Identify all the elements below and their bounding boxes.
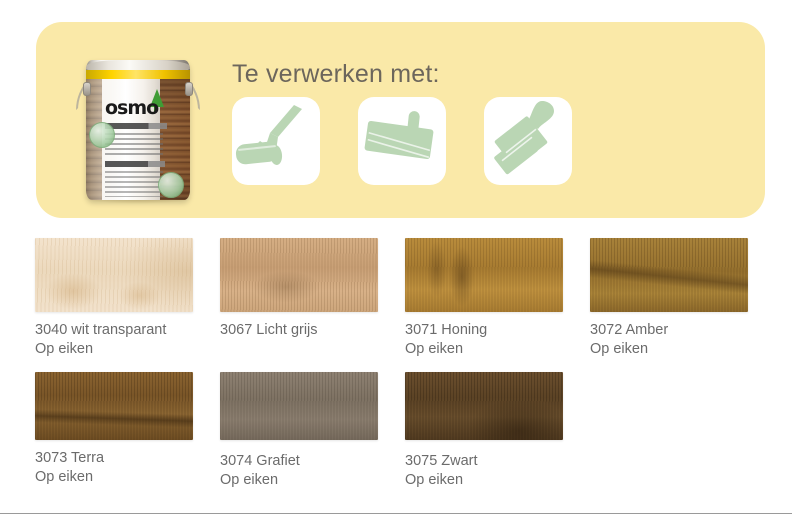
swatch-title: 3040 wit transparant bbox=[35, 321, 220, 340]
swatch-cell-3073[interactable]: 3073 Terra Op eiken bbox=[35, 372, 220, 490]
swatch-subtitle: Op eiken bbox=[35, 340, 220, 359]
osmo-logo: osmo bbox=[105, 99, 158, 118]
swatch-image bbox=[35, 372, 193, 440]
swatch-title: 3067 Licht grijs bbox=[220, 321, 405, 340]
swatch-image bbox=[590, 238, 748, 312]
swatch-subtitle: Op eiken bbox=[220, 471, 405, 490]
page-root: osmo Te verwerken met: bbox=[0, 0, 792, 514]
can-handle-right-lug bbox=[185, 82, 193, 96]
swatch-image bbox=[405, 372, 563, 440]
swatch-title: 3071 Honing bbox=[405, 321, 590, 340]
swatch-cell-3074[interactable]: 3074 Grafiet Op eiken bbox=[220, 372, 405, 490]
product-can-image: osmo bbox=[58, 32, 218, 208]
swatch-image bbox=[405, 238, 563, 312]
swatch-cell-3075[interactable]: 3075 Zwart Op eiken bbox=[405, 372, 590, 490]
paint-can: osmo bbox=[86, 52, 190, 200]
swatch-cell-3072[interactable]: 3072 Amber Op eiken bbox=[590, 238, 775, 359]
can-yellow-stripe bbox=[86, 70, 190, 79]
tool-tile-paint-roller[interactable] bbox=[232, 97, 320, 185]
floor-applicator-icon bbox=[358, 97, 446, 185]
swatch-title: 3074 Grafiet bbox=[220, 452, 405, 471]
swatch-image bbox=[220, 372, 378, 440]
can-body-copy-fr bbox=[105, 171, 163, 197]
can-product-line-nl bbox=[105, 123, 167, 129]
eco-seal-icon-2 bbox=[158, 172, 184, 198]
paint-brush-icon bbox=[484, 97, 572, 185]
can-body: osmo bbox=[86, 60, 190, 200]
paint-roller-icon bbox=[232, 97, 320, 185]
swatch-row: 3040 wit transparant Op eiken 3067 Licht… bbox=[35, 238, 775, 359]
tool-tiles bbox=[232, 97, 572, 185]
colour-swatch-grid: 3040 wit transparant Op eiken 3067 Licht… bbox=[35, 238, 775, 490]
promo-panel: osmo Te verwerken met: bbox=[36, 22, 765, 218]
swatch-title: 3072 Amber bbox=[590, 321, 775, 340]
swatch-image bbox=[35, 238, 193, 312]
swatch-subtitle: Op eiken bbox=[590, 340, 775, 359]
swatch-subtitle: Op eiken bbox=[405, 471, 590, 490]
swatch-row: 3073 Terra Op eiken 3074 Grafiet Op eike… bbox=[35, 372, 775, 490]
swatch-subtitle: Op eiken bbox=[405, 340, 590, 359]
swatch-cell-3071[interactable]: 3071 Honing Op eiken bbox=[405, 238, 590, 359]
swatch-cell-3067[interactable]: 3067 Licht grijs bbox=[220, 238, 405, 359]
swatch-cell-empty bbox=[590, 372, 775, 490]
swatch-title: 3073 Terra bbox=[35, 449, 220, 468]
tool-tile-floor-applicator[interactable] bbox=[358, 97, 446, 185]
swatch-title: 3075 Zwart bbox=[405, 452, 590, 471]
eco-seal-icon-1 bbox=[89, 122, 115, 148]
swatch-image bbox=[220, 238, 378, 312]
promo-heading: Te verwerken met: bbox=[232, 60, 440, 89]
swatch-cell-3040[interactable]: 3040 wit transparant Op eiken bbox=[35, 238, 220, 359]
swatch-subtitle: Op eiken bbox=[35, 468, 220, 487]
can-handle-left-lug bbox=[83, 82, 91, 96]
tool-tile-paint-brush[interactable] bbox=[484, 97, 572, 185]
can-product-line-fr bbox=[105, 161, 165, 167]
